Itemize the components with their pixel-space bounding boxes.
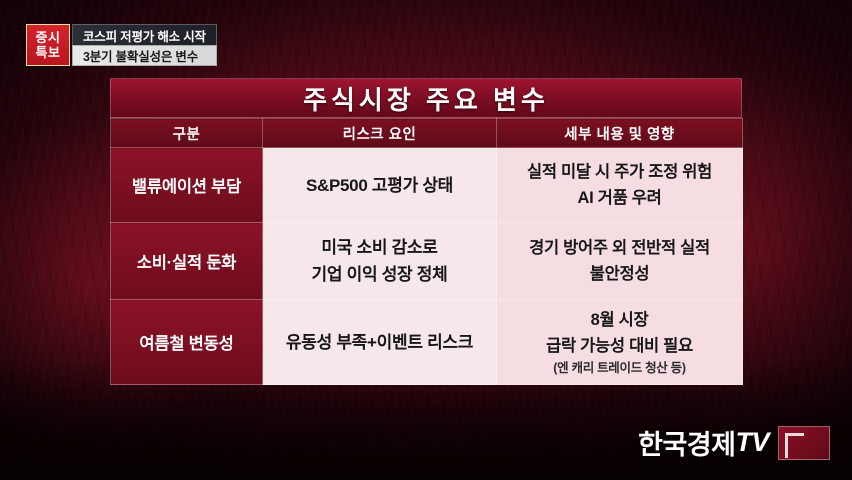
table-header-category: 구분 (111, 119, 263, 148)
broadcast-screen: 증시 특보 코스피 저평가 해소 시작 3분기 불확실성은 변수 주식시장 주요… (0, 0, 852, 480)
row-risk: 미국 소비 감소로 기업 이익 성장 정체 (263, 223, 497, 300)
page-title-bar: 주식시장 주요 변수 (110, 78, 742, 118)
variables-table-container: 구분 리스크 요인 세부 내용 및 영향 밸류에이션 부담 S&P500 고평가… (110, 118, 742, 385)
row-detail-line1: 경기 방어주 외 전반적 실적 (501, 235, 738, 261)
variables-table: 구분 리스크 요인 세부 내용 및 영향 밸류에이션 부담 S&P500 고평가… (110, 118, 743, 385)
row-detail-line2: 급락 가능성 대비 필요 (501, 333, 738, 359)
row-risk: S&P500 고평가 상태 (263, 148, 497, 223)
row-detail-line1: 8월 시장 (501, 307, 738, 333)
ticker-headlines: 코스피 저평가 해소 시작 3분기 불확실성은 변수 (72, 24, 217, 66)
row-category: 밸류에이션 부담 (111, 148, 263, 223)
breaking-news-ticker: 증시 특보 코스피 저평가 해소 시작 3분기 불확실성은 변수 (26, 24, 217, 66)
row-detail: 경기 방어주 외 전반적 실적 불안정성 (497, 223, 743, 300)
page-title: 주식시장 주요 변수 (303, 80, 549, 117)
channel-logo-name: 한국경제 (638, 423, 735, 462)
row-risk-line1: 유동성 부족+이벤트 리스크 (267, 329, 492, 356)
row-detail-line2: 불안정성 (501, 261, 738, 287)
row-detail-line2: AI 거품 우려 (501, 185, 738, 211)
row-detail: 8월 시장 급락 가능성 대비 필요 (엔 캐리 트레이드 청산 등) (497, 300, 743, 385)
row-detail: 실적 미달 시 주가 조정 위험 AI 거품 우려 (497, 148, 743, 223)
table-row: 여름철 변동성 유동성 부족+이벤트 리스크 8월 시장 급락 가능성 대비 필… (111, 300, 743, 385)
row-risk-line1: S&P500 고평가 상태 (267, 172, 492, 199)
channel-logo: 한국경제 TV (638, 423, 830, 462)
table-header-row: 구분 리스크 요인 세부 내용 및 영향 (111, 119, 743, 148)
ticker-headline-secondary: 3분기 불확실성은 변수 (72, 45, 217, 66)
ticker-headline-primary: 코스피 저평가 해소 시작 (72, 24, 217, 45)
ticker-badge-line2: 특보 (36, 45, 61, 60)
row-risk-line1: 미국 소비 감소로 (267, 234, 492, 261)
row-category: 여름철 변동성 (111, 300, 263, 385)
channel-logo-suffix: TV (735, 427, 769, 458)
table-row: 밸류에이션 부담 S&P500 고평가 상태 실적 미달 시 주가 조정 위험 … (111, 148, 743, 223)
row-risk: 유동성 부족+이벤트 리스크 (263, 300, 497, 385)
table-row: 소비·실적 둔화 미국 소비 감소로 기업 이익 성장 정체 경기 방어주 외 … (111, 223, 743, 300)
row-risk-line2: 기업 이익 성장 정체 (267, 261, 492, 288)
row-detail-line1: 실적 미달 시 주가 조정 위험 (501, 159, 738, 185)
table-header-risk: 리스크 요인 (263, 119, 497, 148)
channel-logo-mark-icon (778, 426, 830, 460)
table-header-detail: 세부 내용 및 영향 (497, 119, 743, 148)
row-detail-note: (엔 캐리 트레이드 청산 등) (501, 359, 738, 378)
row-category: 소비·실적 둔화 (111, 223, 263, 300)
ticker-badge: 증시 특보 (26, 24, 70, 66)
ticker-badge-line1: 증시 (36, 30, 61, 45)
